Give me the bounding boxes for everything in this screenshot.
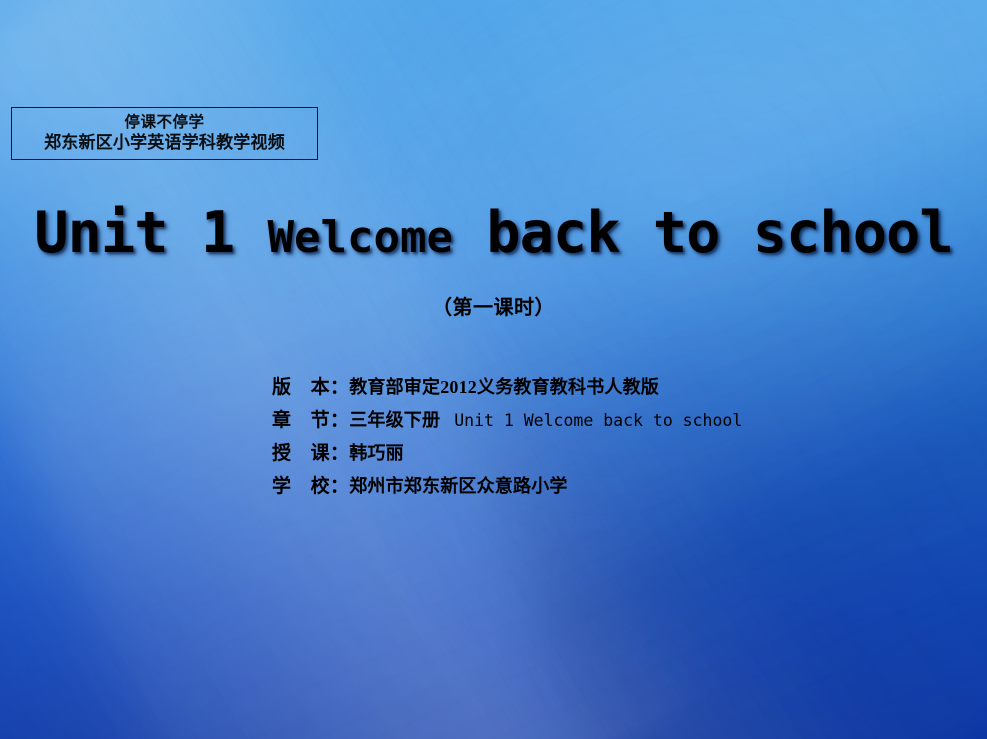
course-info-block: 版 本： 教育部审定2012义务教育教科书人教版 章 节： 三年级下册 Unit…: [272, 372, 742, 504]
header-banner-line2: 郑东新区小学英语学科教学视频: [44, 132, 285, 154]
info-value-chapter-cn: 三年级下册: [349, 406, 440, 432]
info-label-chapter: 章 节：: [272, 405, 349, 432]
info-row-school: 学 校： 郑州市郑东新区众意路小学: [272, 471, 742, 504]
title-segment-unit: Unit 1: [34, 200, 267, 266]
info-label-edition: 版 本：: [272, 372, 349, 399]
slide-content: 停课不停学 郑东新区小学英语学科教学视频 Unit 1 Welcome back…: [0, 0, 987, 739]
info-row-teacher: 授 课： 韩巧丽: [272, 438, 742, 471]
header-banner-line1: 停课不停学: [124, 113, 204, 132]
header-banner-box: 停课不停学 郑东新区小学英语学科教学视频: [11, 107, 318, 160]
slide-subtitle: （第一课时）: [0, 294, 987, 322]
info-label-school: 学 校：: [272, 471, 349, 498]
info-value-chapter-en: Unit 1 Welcome back to school: [440, 411, 742, 430]
info-row-chapter: 章 节： 三年级下册 Unit 1 Welcome back to school: [272, 405, 742, 438]
info-label-teacher: 授 课：: [272, 438, 349, 465]
info-value-school: 郑州市郑东新区众意路小学: [349, 472, 567, 498]
slide-main-title: Unit 1 Welcome back to school: [0, 198, 987, 273]
title-segment-welcome: Welcome: [268, 212, 453, 263]
info-value-teacher: 韩巧丽: [349, 439, 404, 465]
presentation-slide: 停课不停学 郑东新区小学英语学科教学视频 Unit 1 Welcome back…: [0, 0, 987, 739]
info-row-edition: 版 本： 教育部审定2012义务教育教科书人教版: [272, 372, 742, 405]
title-segment-back-to-school: back to school: [453, 200, 953, 266]
info-value-edition: 教育部审定2012义务教育教科书人教版: [349, 373, 659, 399]
